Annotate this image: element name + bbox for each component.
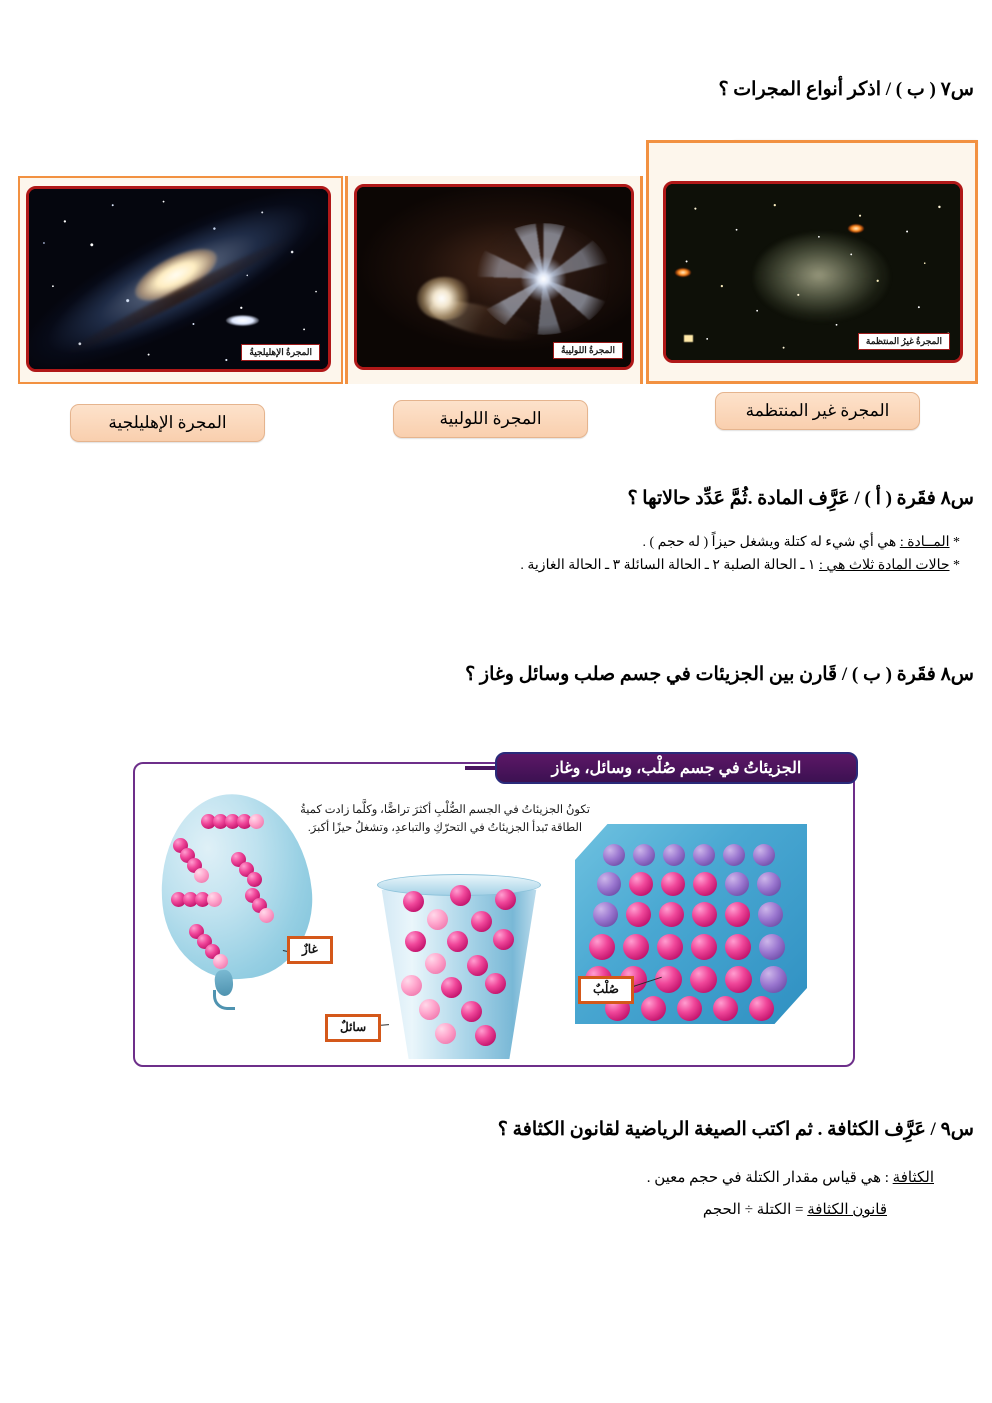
gas-molecule	[194, 868, 209, 883]
solid-molecule	[757, 872, 781, 896]
density-label: الكثافة	[893, 1170, 934, 1186]
solid-molecule	[661, 872, 685, 896]
answer-density-law: قانون الكثافة = الكتلة ÷ الحجم	[703, 1200, 887, 1219]
density-law-text: = الكتلة ÷ الحجم	[703, 1202, 804, 1218]
question-8a-heading: س٨ فقَرة ( أ ) / عَرَِّف المادة .ثُمَّ ع…	[627, 487, 974, 510]
liquid-molecule	[471, 911, 492, 932]
solid-molecule	[690, 966, 717, 993]
molecules-states-figure: الجزيئاتُ في جسم صُلْب، وسائل، وغاز تكون…	[133, 762, 855, 1067]
liquid-molecule	[495, 889, 516, 910]
solid-molecule	[641, 996, 666, 1021]
solid-state-callout: صُلْبٌ	[578, 976, 634, 1004]
liquid-molecule	[461, 1001, 482, 1022]
liquid-molecule	[450, 885, 471, 906]
galaxy-label-irregular: المجرة غير المنتظمة	[715, 392, 920, 430]
cup-body	[375, 879, 543, 1059]
liquid-molecule	[467, 955, 488, 976]
solid-molecule	[663, 844, 685, 866]
answer-density-definition: الكثافة : هي قياس مقدار الكتلة في حجم مع…	[647, 1168, 934, 1187]
solid-molecule	[725, 902, 750, 927]
matter-definition-text: هي أي شيء له كتلة ويشغل حيزاً ( له حجم )…	[643, 535, 897, 550]
solid-molecule	[693, 872, 717, 896]
solid-molecule	[760, 966, 787, 993]
answer-matter-states: * حالات المادة ثلاث هي : ١ ـ الحالة الصل…	[520, 557, 960, 574]
solid-molecule	[626, 902, 651, 927]
density-text: : هي قياس مقدار الكتلة في حجم معين .	[647, 1170, 889, 1186]
gas-molecule	[249, 814, 264, 829]
molecules-figure-banner-label: الجزيئاتُ في جسم صُلْب، وسائل، وغاز	[552, 758, 802, 778]
solid-molecule	[657, 934, 683, 960]
solid-molecule	[691, 934, 717, 960]
question-8b-heading: س٨ فقَرة ( ب ) / قَارن بين الجزيئات في ج…	[465, 663, 974, 686]
gas-molecule	[213, 954, 228, 969]
galaxy-label-spiral: المجرة اللولبية	[393, 400, 588, 438]
liquid-state-callout: سائلٌ	[325, 1014, 381, 1042]
solid-molecule	[633, 844, 655, 866]
gas-molecule	[247, 872, 262, 887]
liquid-molecule	[425, 953, 446, 974]
liquid-cup-illustration	[375, 879, 543, 1059]
gas-molecule	[259, 908, 274, 923]
spiral-galaxy-body	[475, 223, 612, 335]
solid-molecule	[759, 934, 785, 960]
galaxy-image-irregular: المجرةُ غيرُ المنتظمة	[663, 181, 963, 363]
molecules-description-text: تكونُ الجزيئاتُ في الجسم الصُّلْبِ أكثرَ…	[295, 802, 595, 838]
liquid-molecule	[435, 1023, 456, 1044]
liquid-molecule	[447, 931, 468, 952]
matter-definition-label: المــادة :	[900, 535, 950, 550]
galaxy-image-caption-elliptical: المجرةُ الإهليلجيةُ	[241, 344, 320, 361]
liquid-molecule	[405, 931, 426, 952]
answer-matter-definition: * المــادة : هي أي شيء له كتلة ويشغل حيز…	[643, 534, 960, 551]
liquid-molecule	[403, 891, 424, 912]
spiral-companion-galaxy	[417, 277, 472, 320]
companion-galaxy	[226, 315, 259, 326]
liquid-molecule	[441, 977, 462, 998]
galaxy-label-elliptical-text: المجرة الإهليلجية	[108, 413, 226, 433]
solid-molecule	[603, 844, 625, 866]
solid-molecule	[677, 996, 702, 1021]
liquid-molecule	[485, 973, 506, 994]
density-law-label: قانون الكثافة	[807, 1202, 887, 1218]
liquid-molecule	[401, 975, 422, 996]
solid-molecule	[597, 872, 621, 896]
galaxy-image-caption-spiral: المجرةُ اللوليبةُ	[553, 342, 623, 359]
liquid-molecule	[493, 929, 514, 950]
bullet-marker-2: *	[953, 558, 960, 573]
solid-molecule	[725, 934, 751, 960]
gas-molecule	[207, 892, 222, 907]
solid-molecule	[593, 902, 618, 927]
yellow-star-box	[684, 335, 693, 342]
solid-molecule	[758, 902, 783, 927]
matter-states-text: ١ ـ الحالة الصلبة ٢ ـ الحالة السائلة ٣ ـ…	[520, 558, 815, 573]
solid-molecule	[725, 872, 749, 896]
solid-molecule	[623, 934, 649, 960]
galaxy-panel-irregular: المجرةُ غيرُ المنتظمة	[646, 140, 978, 384]
solid-molecule	[723, 844, 745, 866]
solid-molecule	[753, 844, 775, 866]
solid-molecule	[659, 902, 684, 927]
solid-molecule	[655, 966, 682, 993]
galaxy-panel-elliptical: المجرةُ الإهليلجيةُ	[18, 176, 343, 384]
galaxy-label-spiral-text: المجرة اللولبية	[439, 409, 541, 429]
question-7b-heading: س٧ ( ب ) / اذكر أنواع المجرات ؟	[718, 78, 974, 101]
galaxy-label-irregular-text: المجرة غير المنتظمة	[746, 401, 890, 421]
balloon-tail	[213, 990, 235, 1010]
bullet-marker: *	[953, 535, 960, 550]
solid-molecule	[629, 872, 653, 896]
galaxy-image-caption-irregular: المجرةُ غيرُ المنتظمة	[858, 333, 950, 350]
gas-state-callout: غازٌ	[287, 936, 333, 964]
galaxy-image-spiral: المجرةُ اللوليبةُ	[354, 184, 634, 370]
solid-molecule	[692, 902, 717, 927]
liquid-molecule	[475, 1025, 496, 1046]
question-9-heading: س٩ / عَرَِّف الكثافة . ثم اكتب الصيغة ال…	[498, 1118, 974, 1141]
galaxy-panel-spiral: المجرةُ اللوليبةُ	[345, 176, 643, 384]
galaxy-image-elliptical: المجرةُ الإهليلجيةُ	[26, 186, 331, 372]
matter-states-label: حالات المادة ثلاث هي :	[819, 558, 950, 573]
liquid-molecule	[419, 999, 440, 1020]
solid-molecule	[749, 996, 774, 1021]
solid-molecule	[589, 934, 615, 960]
galaxy-types-figure: أنواعُ المجرّاتِ المجرةُ الإهليلجيةُ	[18, 140, 978, 390]
galaxy-label-elliptical: المجرة الإهليلجية	[70, 404, 265, 442]
solid-molecule	[693, 844, 715, 866]
solid-molecule	[725, 966, 752, 993]
molecules-figure-banner: الجزيئاتُ في جسم صُلْب، وسائل، وغاز	[495, 752, 858, 784]
solid-molecule	[713, 996, 738, 1021]
liquid-molecule	[427, 909, 448, 930]
